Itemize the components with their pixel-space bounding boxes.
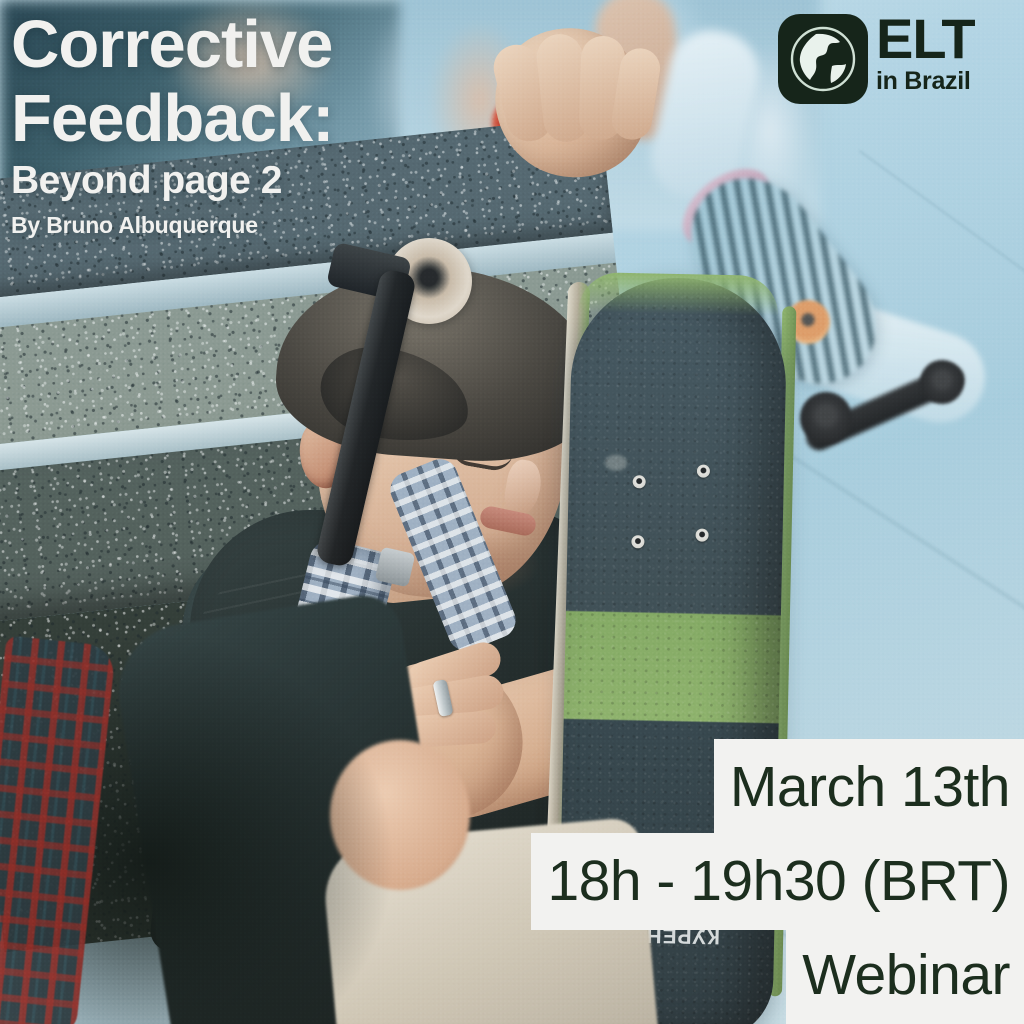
poster-headline: Corrective Feedback: Beyond page 2 By Br…: [11, 8, 611, 240]
logo-tagline-text: in Brazil: [876, 66, 1016, 96]
globe-brazil-icon: [778, 14, 868, 104]
elt-in-brazil-logo[interactable]: ELT in Brazil: [778, 12, 1014, 108]
event-format: Webinar: [786, 927, 1024, 1024]
headline-subtitle: Beyond page 2: [11, 158, 611, 204]
background-dark-wheel: [800, 392, 852, 444]
headline-line-2: Feedback:: [11, 82, 611, 156]
event-time: 18h - 19h30 (BRT): [531, 833, 1024, 930]
presenter-byline: By Bruno Albuquerque: [11, 210, 611, 240]
webinar-poster: КУРЕНИЕ УБИВАЕТ Corrective Feedback: Bey…: [0, 0, 1024, 1024]
logo-wordmark: ELT in Brazil: [876, 12, 1016, 96]
headline-line-1: Corrective: [11, 8, 611, 82]
deck-nose-rim: [578, 272, 779, 316]
event-details: March 13th 18h - 19h30 (BRT) Webinar: [531, 739, 1024, 1024]
event-date: March 13th: [714, 739, 1024, 836]
logo-elt-text: ELT: [876, 12, 1016, 66]
background-dark-wheel: [920, 360, 964, 404]
